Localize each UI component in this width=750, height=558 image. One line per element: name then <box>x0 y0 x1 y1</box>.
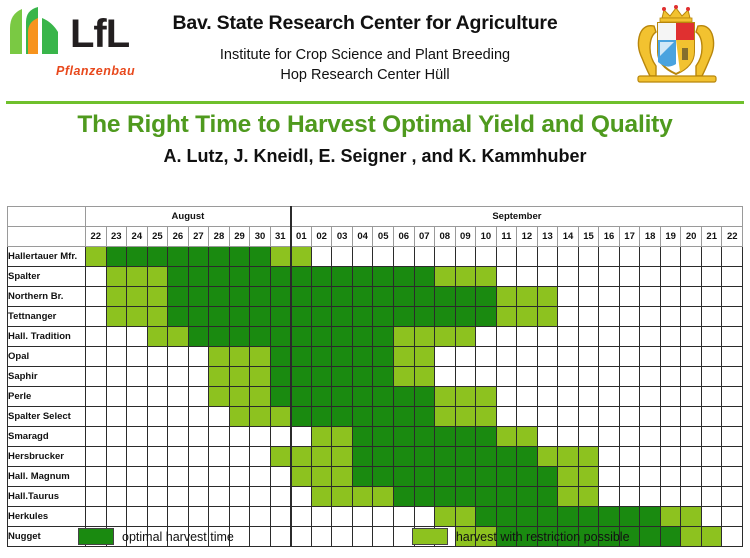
harvest-table: AugustSeptember 222324252627282930310102… <box>7 206 743 547</box>
harvest-cell <box>393 487 414 507</box>
harvest-cell <box>209 267 230 287</box>
harvest-cell <box>619 327 640 347</box>
harvest-cell <box>599 427 620 447</box>
variety-label: Spalter <box>8 267 86 287</box>
harvest-cell <box>209 247 230 267</box>
harvest-cell <box>311 267 332 287</box>
harvest-cell <box>373 287 394 307</box>
harvest-cell <box>701 487 722 507</box>
harvest-cell <box>373 387 394 407</box>
harvest-cell <box>435 307 456 327</box>
harvest-cell <box>86 247 107 267</box>
harvest-cell <box>86 287 107 307</box>
harvest-cell <box>701 507 722 527</box>
harvest-cell <box>476 447 497 467</box>
harvest-cell <box>701 347 722 367</box>
harvest-cell <box>476 347 497 367</box>
table-row: Hall. Tradition <box>8 327 743 347</box>
harvest-cell <box>640 367 661 387</box>
harvest-cell <box>311 287 332 307</box>
day-header-11: 02 <box>311 227 332 247</box>
day-header-26: 17 <box>619 227 640 247</box>
harvest-cell <box>558 287 579 307</box>
harvest-cell <box>127 327 148 347</box>
corner-cell-2 <box>8 227 86 247</box>
harvest-cell <box>517 247 538 267</box>
harvest-cell <box>619 467 640 487</box>
harvest-cell <box>640 347 661 367</box>
harvest-cell <box>270 307 291 327</box>
month-header-august: August <box>86 207 291 227</box>
harvest-cell <box>229 487 250 507</box>
harvest-cell <box>209 447 230 467</box>
harvest-cell <box>106 387 127 407</box>
harvest-cell <box>209 367 230 387</box>
harvest-cell <box>435 367 456 387</box>
harvest-cell <box>476 327 497 347</box>
harvest-cell <box>701 367 722 387</box>
harvest-cell <box>250 387 271 407</box>
harvest-cell <box>270 387 291 407</box>
harvest-cell <box>681 527 702 547</box>
harvest-cell <box>619 347 640 367</box>
harvest-cell <box>640 387 661 407</box>
harvest-cell <box>578 327 599 347</box>
harvest-cell <box>578 387 599 407</box>
harvest-cell <box>168 407 189 427</box>
harvest-cell <box>147 287 168 307</box>
harvest-cell <box>373 487 394 507</box>
harvest-cell <box>558 347 579 367</box>
harvest-cell <box>496 427 517 447</box>
harvest-cell <box>599 267 620 287</box>
day-header-13: 04 <box>352 227 373 247</box>
harvest-cell <box>517 367 538 387</box>
harvest-cell <box>537 307 558 327</box>
harvest-cell <box>599 307 620 327</box>
harvest-cell <box>476 427 497 447</box>
harvest-cell <box>311 247 332 267</box>
harvest-cell <box>660 247 681 267</box>
harvest-cell <box>435 287 456 307</box>
harvest-cell <box>599 367 620 387</box>
harvest-cell <box>147 387 168 407</box>
day-header-23: 14 <box>558 227 579 247</box>
harvest-cell <box>681 467 702 487</box>
harvest-cell <box>558 447 579 467</box>
harvest-cell <box>106 447 127 467</box>
harvest-cell <box>229 407 250 427</box>
harvest-cell <box>106 507 127 527</box>
harvest-cell <box>168 287 189 307</box>
harvest-cell <box>291 307 312 327</box>
harvest-cell <box>168 387 189 407</box>
harvest-cell <box>291 247 312 267</box>
harvest-cell <box>332 307 353 327</box>
harvest-cell <box>435 247 456 267</box>
harvest-cell <box>270 347 291 367</box>
harvest-cell <box>332 507 353 527</box>
day-header-9: 31 <box>270 227 291 247</box>
harvest-cell <box>599 327 620 347</box>
harvest-cell <box>352 367 373 387</box>
harvest-cell <box>291 347 312 367</box>
harvest-cell <box>311 467 332 487</box>
harvest-cell <box>558 247 579 267</box>
harvest-cell <box>455 487 476 507</box>
harvest-cell <box>578 447 599 467</box>
harvest-cell <box>496 507 517 527</box>
harvest-cell <box>168 367 189 387</box>
harvest-cell <box>414 387 435 407</box>
harvest-cell <box>127 387 148 407</box>
harvest-cell <box>599 387 620 407</box>
harvest-cell <box>393 367 414 387</box>
harvest-cell <box>599 467 620 487</box>
harvest-cell <box>291 467 312 487</box>
harvest-cell <box>393 347 414 367</box>
harvest-cell <box>168 467 189 487</box>
harvest-cell <box>127 307 148 327</box>
harvest-cell <box>619 287 640 307</box>
harvest-cell <box>250 287 271 307</box>
harvest-cell <box>660 327 681 347</box>
harvest-cell <box>599 487 620 507</box>
legend-label-restricted: harvest with restriction possible <box>456 530 630 544</box>
harvest-cell <box>558 427 579 447</box>
harvest-cell <box>660 407 681 427</box>
org-title: Bav. State Research Center for Agricultu… <box>130 10 600 36</box>
harvest-cell <box>373 447 394 467</box>
harvest-cell <box>393 387 414 407</box>
harvest-cell <box>435 347 456 367</box>
harvest-cell <box>147 367 168 387</box>
harvest-cell <box>414 447 435 467</box>
harvest-cell <box>332 487 353 507</box>
harvest-cell <box>455 327 476 347</box>
harvest-cell <box>414 367 435 387</box>
day-header-17: 08 <box>435 227 456 247</box>
table-row: Perle <box>8 387 743 407</box>
harvest-cell <box>722 307 743 327</box>
org-line-2: Hop Research Center Hüll <box>130 65 600 85</box>
organization-block: Bav. State Research Center for Agricultu… <box>130 10 600 85</box>
harvest-cell <box>722 347 743 367</box>
harvest-cell <box>147 487 168 507</box>
harvest-cell <box>681 327 702 347</box>
harvest-cell <box>476 387 497 407</box>
harvest-cell <box>86 447 107 467</box>
harvest-cell <box>455 507 476 527</box>
harvest-cell <box>414 287 435 307</box>
harvest-cell <box>517 487 538 507</box>
harvest-cell <box>229 467 250 487</box>
harvest-cell <box>517 467 538 487</box>
harvest-cell <box>147 327 168 347</box>
org-line-1: Institute for Crop Science and Plant Bre… <box>130 45 600 65</box>
harvest-cell <box>517 507 538 527</box>
harvest-cell <box>640 307 661 327</box>
harvest-cell <box>435 507 456 527</box>
table-row: Hallertauer Mfr. <box>8 247 743 267</box>
harvest-cell <box>86 407 107 427</box>
variety-label: Herkules <box>8 507 86 527</box>
harvest-cell <box>291 267 312 287</box>
harvest-cell <box>352 507 373 527</box>
harvest-cell <box>660 287 681 307</box>
harvest-cell <box>270 267 291 287</box>
logo-wordmark: LfL <box>70 14 129 54</box>
harvest-cell <box>311 427 332 447</box>
harvest-cell <box>681 507 702 527</box>
harvest-cell <box>619 487 640 507</box>
harvest-cell <box>640 507 661 527</box>
harvest-cell <box>188 447 209 467</box>
harvest-cell <box>250 367 271 387</box>
harvest-cell <box>619 407 640 427</box>
harvest-cell <box>270 487 291 507</box>
harvest-cell <box>537 447 558 467</box>
day-header-31: 22 <box>722 227 743 247</box>
harvest-cell <box>352 287 373 307</box>
slide-page: LfL Pflanzenbau Bav. State Research Cent… <box>0 0 750 558</box>
harvest-cell <box>188 307 209 327</box>
harvest-cell <box>558 267 579 287</box>
harvest-cell <box>229 307 250 327</box>
harvest-cell <box>250 467 271 487</box>
harvest-cell <box>311 507 332 527</box>
day-header-5: 27 <box>188 227 209 247</box>
harvest-cell <box>660 467 681 487</box>
month-header-row: AugustSeptember <box>8 207 743 227</box>
harvest-cell <box>640 407 661 427</box>
harvest-cell <box>722 387 743 407</box>
harvest-cell <box>640 447 661 467</box>
harvest-cell <box>455 367 476 387</box>
harvest-cell <box>722 247 743 267</box>
harvest-cell <box>578 307 599 327</box>
harvest-cell <box>558 387 579 407</box>
leaf-logo-icon <box>8 6 72 62</box>
harvest-cell <box>352 467 373 487</box>
harvest-cell <box>660 447 681 467</box>
variety-label: Saphir <box>8 367 86 387</box>
day-header-21: 12 <box>517 227 538 247</box>
harvest-cell <box>681 487 702 507</box>
harvest-cell <box>250 407 271 427</box>
harvest-cell <box>455 267 476 287</box>
harvest-cell <box>496 307 517 327</box>
harvest-cell <box>496 387 517 407</box>
harvest-cell <box>188 267 209 287</box>
harvest-cell <box>414 407 435 427</box>
authors-line: A. Lutz, J. Kneidl, E. Seigner , and K. … <box>0 144 750 168</box>
day-header-8: 30 <box>250 227 271 247</box>
harvest-cell <box>619 427 640 447</box>
harvest-cell <box>147 267 168 287</box>
harvest-cell <box>270 467 291 487</box>
harvest-cell <box>558 407 579 427</box>
day-header-19: 10 <box>476 227 497 247</box>
harvest-cell <box>168 347 189 367</box>
harvest-cell <box>229 387 250 407</box>
harvest-cell <box>86 507 107 527</box>
day-header-14: 05 <box>373 227 394 247</box>
harvest-cell <box>147 347 168 367</box>
harvest-cell <box>106 407 127 427</box>
day-header-24: 15 <box>578 227 599 247</box>
harvest-cell <box>209 347 230 367</box>
harvest-cell <box>537 287 558 307</box>
harvest-cell <box>476 247 497 267</box>
harvest-cell <box>496 467 517 487</box>
harvest-cell <box>701 467 722 487</box>
harvest-cell <box>681 307 702 327</box>
harvest-cell <box>209 427 230 447</box>
harvest-cell <box>291 387 312 407</box>
harvest-cell <box>393 407 414 427</box>
harvest-cell <box>619 307 640 327</box>
harvest-cell <box>722 287 743 307</box>
harvest-cell <box>537 407 558 427</box>
harvest-cell <box>332 467 353 487</box>
harvest-cell <box>229 247 250 267</box>
harvest-cell <box>455 307 476 327</box>
harvest-cell <box>270 247 291 267</box>
harvest-cell <box>537 267 558 287</box>
harvest-cell <box>250 427 271 447</box>
harvest-cell <box>681 367 702 387</box>
day-header-1: 23 <box>106 227 127 247</box>
harvest-cell <box>660 307 681 327</box>
legend-swatch-restricted <box>412 528 448 545</box>
day-header-25: 16 <box>599 227 620 247</box>
harvest-cell <box>168 307 189 327</box>
harvest-cell <box>619 247 640 267</box>
day-header-3: 25 <box>147 227 168 247</box>
harvest-cell <box>373 247 394 267</box>
harvest-cell <box>373 367 394 387</box>
harvest-cell <box>558 487 579 507</box>
harvest-cell <box>496 367 517 387</box>
legend-item-optimal: optimal harvest time <box>78 528 234 545</box>
harvest-cell <box>291 407 312 427</box>
harvest-cell <box>209 327 230 347</box>
harvest-cell <box>147 407 168 427</box>
harvest-cell <box>701 527 722 547</box>
harvest-cell <box>291 447 312 467</box>
harvest-cell <box>168 507 189 527</box>
harvest-cell <box>209 507 230 527</box>
harvest-cell <box>86 467 107 487</box>
harvest-cell <box>86 427 107 447</box>
harvest-cell <box>660 387 681 407</box>
harvest-cell <box>701 387 722 407</box>
harvest-cell <box>373 267 394 287</box>
harvest-cell <box>435 387 456 407</box>
harvest-cell <box>352 267 373 287</box>
harvest-cell <box>660 487 681 507</box>
harvest-cell <box>660 367 681 387</box>
harvest-cell <box>168 267 189 287</box>
harvest-cell <box>127 407 148 427</box>
harvest-cell <box>640 427 661 447</box>
harvest-cell <box>435 407 456 427</box>
harvest-cell <box>701 247 722 267</box>
harvest-cell <box>599 287 620 307</box>
harvest-cell <box>537 367 558 387</box>
harvest-cell <box>414 467 435 487</box>
harvest-cell <box>517 427 538 447</box>
harvest-cell <box>127 487 148 507</box>
harvest-cell <box>455 467 476 487</box>
harvest-cell <box>127 507 148 527</box>
harvest-cell <box>722 367 743 387</box>
harvest-cell <box>517 267 538 287</box>
harvest-cell <box>106 487 127 507</box>
variety-label: Hallertauer Mfr. <box>8 247 86 267</box>
harvest-cell <box>332 407 353 427</box>
variety-label: Spalter Select <box>8 407 86 427</box>
harvest-cell <box>147 307 168 327</box>
harvest-cell <box>517 387 538 407</box>
header-divider <box>6 101 744 104</box>
table-row: Hersbrucker <box>8 447 743 467</box>
harvest-cell <box>311 487 332 507</box>
harvest-cell <box>496 407 517 427</box>
harvest-cell <box>455 347 476 367</box>
harvest-cell <box>640 287 661 307</box>
harvest-cell <box>393 287 414 307</box>
harvest-cell <box>393 427 414 447</box>
harvest-cell <box>127 287 148 307</box>
harvest-cell <box>250 487 271 507</box>
harvest-cell <box>229 507 250 527</box>
harvest-cell <box>106 287 127 307</box>
harvest-cell <box>578 247 599 267</box>
harvest-cell <box>578 467 599 487</box>
harvest-cell <box>578 487 599 507</box>
harvest-cell <box>291 327 312 347</box>
harvest-cell <box>188 327 209 347</box>
harvest-cell <box>188 487 209 507</box>
harvest-cell <box>435 447 456 467</box>
harvest-cell <box>188 367 209 387</box>
page-header: LfL Pflanzenbau Bav. State Research Cent… <box>0 0 750 98</box>
harvest-cell <box>476 467 497 487</box>
harvest-cell <box>578 407 599 427</box>
harvest-cell <box>517 447 538 467</box>
harvest-cell <box>188 247 209 267</box>
harvest-cell <box>250 307 271 327</box>
day-header-4: 26 <box>168 227 189 247</box>
harvest-cell <box>229 287 250 307</box>
title-block: The Right Time to Harvest Optimal Yield … <box>0 110 750 168</box>
harvest-cell <box>270 287 291 307</box>
day-header-10: 01 <box>291 227 312 247</box>
day-header-15: 06 <box>393 227 414 247</box>
harvest-cell <box>701 307 722 327</box>
harvest-cell <box>393 247 414 267</box>
legend-swatch-optimal <box>78 528 114 545</box>
legend-label-optimal: optimal harvest time <box>122 530 234 544</box>
variety-label: Smaragd <box>8 427 86 447</box>
harvest-cell <box>147 467 168 487</box>
harvest-cell <box>476 507 497 527</box>
harvest-cell <box>86 387 107 407</box>
harvest-cell <box>681 287 702 307</box>
harvest-cell <box>311 347 332 367</box>
